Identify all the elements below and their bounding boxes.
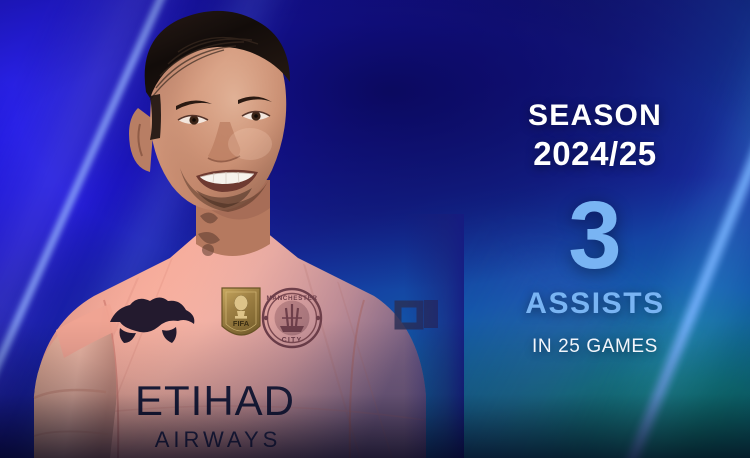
season-value: 2024/25	[528, 137, 662, 171]
stat-number: 3	[568, 192, 621, 280]
season-label: SEASON	[528, 99, 662, 132]
stat-card-graphic: FIFA MANCHESTER CITY ETIHAD AIRWAYS	[0, 0, 750, 458]
season-heading: SEASON 2024/25	[528, 101, 662, 170]
stat-label: ASSISTS	[525, 287, 665, 321]
stat-sublabel: IN 25 GAMES	[532, 336, 658, 358]
stat-panel: SEASON 2024/25 3 ASSISTS IN 25 GAMES	[440, 0, 750, 458]
